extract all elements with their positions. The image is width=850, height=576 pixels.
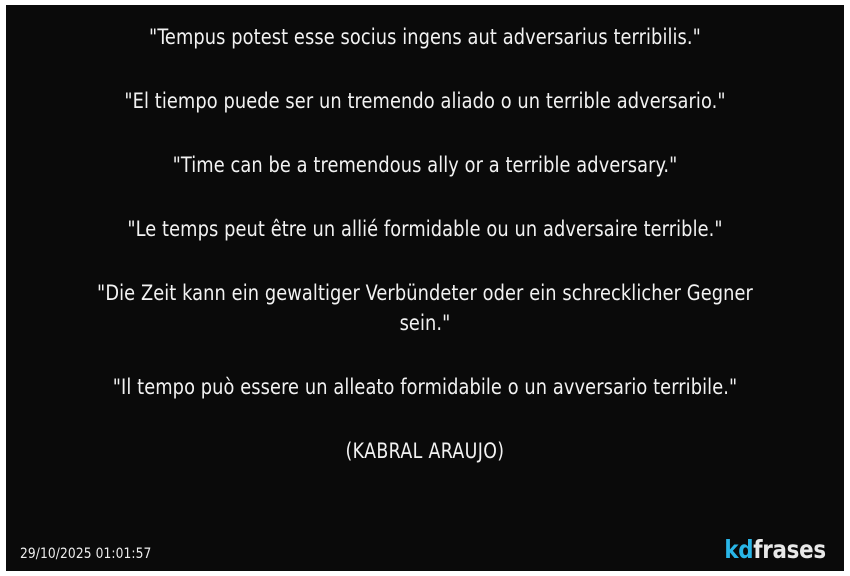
quote-line-german: "Die Zeit kann ein gewaltiger Verbündete…	[80, 279, 770, 339]
quote-card-inner: "Tempus potest esse socius ingens aut ad…	[6, 5, 844, 571]
quote-line-french: "Le temps peut être un allié formidable …	[80, 215, 770, 245]
quote-line-latin: "Tempus potest esse socius ingens aut ad…	[80, 23, 770, 53]
quote-line-italian: "Il tempo può essere un alleato formidab…	[80, 373, 770, 403]
card-footer: 29/10/2025 01:01:57 kdfrases	[6, 515, 844, 571]
quote-line-spanish: "El tiempo puede ser un tremendo aliado …	[80, 87, 770, 117]
quote-line-english: "Time can be a tremendous ally or a terr…	[80, 151, 770, 181]
logo-text-kd: kd	[725, 537, 754, 563]
timestamp-label: 29/10/2025 01:01:57	[20, 545, 151, 563]
logo-text-frases: frases	[754, 537, 826, 563]
quote-image-card: "Tempus potest esse socius ingens aut ad…	[0, 0, 850, 576]
kdfrases-logo[interactable]: kdfrases	[725, 537, 826, 563]
quote-text-block: "Tempus potest esse socius ingens aut ad…	[6, 5, 844, 515]
quote-attribution: (KABRAL ARAUJO)	[80, 437, 770, 465]
